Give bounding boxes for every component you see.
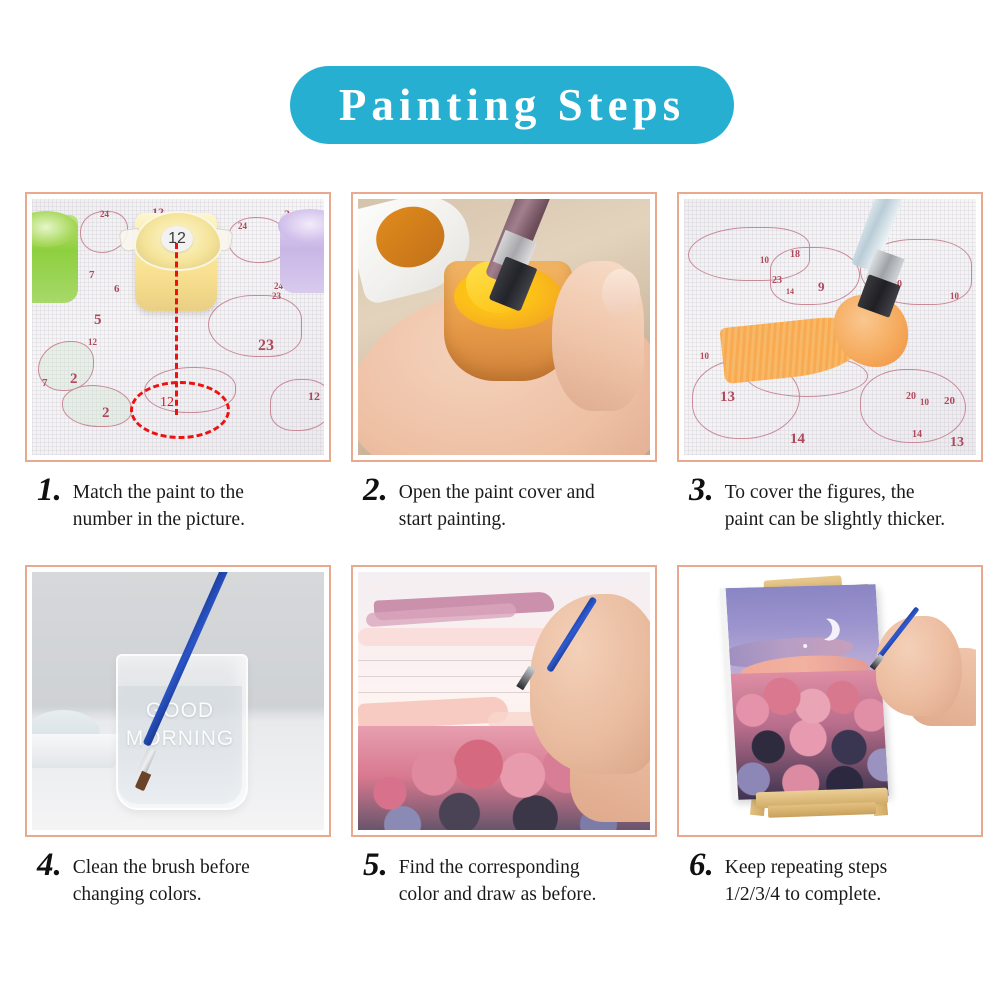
canvas-number: 14 (912, 429, 922, 440)
step-text-line-1: Open the paint cover and (399, 479, 595, 506)
fingernail (602, 269, 640, 317)
canvas-number: 20 (906, 391, 916, 402)
paint-pot-matching-number-photo: 12 24 2 24 7 6 5 12 2 7 2 23 24 23 12 12 (32, 199, 324, 455)
step-card-1: 12 24 2 24 7 6 5 12 2 7 2 23 24 23 12 12 (25, 192, 331, 533)
canvas-number: 7 (89, 269, 95, 281)
finished-canvas (720, 584, 889, 800)
pot-lid (32, 211, 78, 247)
canvas-number: 13 (950, 435, 964, 451)
canvas-shape (208, 295, 302, 357)
step-card-6: 6. Keep repeating steps 1/2/3/4 to compl… (677, 565, 983, 908)
step-text-3: To cover the figures, the paint can be s… (725, 475, 945, 533)
step-caption-2: 2. Open the paint cover and start painti… (351, 475, 657, 533)
photo-frame-1: 12 24 2 24 7 6 5 12 2 7 2 23 24 23 12 12 (25, 192, 331, 462)
canvas-number: 6 (114, 283, 120, 295)
page-title-badge: Painting Steps (290, 66, 734, 144)
canvas-number: 9 (818, 279, 825, 295)
step-number-3: 3. (689, 475, 714, 505)
step-text-line-1: Clean the brush before (73, 854, 250, 881)
photo-frame-2 (351, 192, 657, 462)
step-caption-4: 4. Clean the brush before changing color… (25, 850, 331, 908)
open-paint-pot-with-brush-photo (358, 199, 650, 455)
step-text-4: Clean the brush before changing colors. (73, 850, 250, 908)
step-caption-6: 6. Keep repeating steps 1/2/3/4 to compl… (677, 850, 983, 908)
paint-residue (366, 199, 453, 279)
easel-tray-lower (768, 802, 876, 818)
canvas-number: 13 (720, 389, 735, 406)
step-text-2: Open the paint cover and start painting. (399, 475, 595, 533)
step-text-5: Find the corresponding color and draw as… (399, 850, 597, 908)
glass-text: GOOD MORNING (124, 697, 236, 753)
canvas-number: 10 (920, 397, 929, 407)
brush-in-water-glass-photo: GOOD MORNING (32, 572, 324, 830)
step-card-5: 5. Find the corresponding color and draw… (351, 565, 657, 908)
canvas-number: 12 (308, 389, 320, 404)
canvas-shape (270, 379, 324, 431)
star-icon (803, 644, 807, 648)
step-number-4: 4. (37, 850, 62, 880)
canvas-number: 12 (88, 337, 97, 347)
step-text-line-1: To cover the figures, the (725, 479, 945, 506)
step-number-1: 1. (37, 475, 62, 505)
step-card-3: 10 18 23 14 9 20 19 10 10 20 13 20 10 20… (677, 192, 983, 533)
canvas-number: 7 (42, 377, 48, 389)
step-text-line-2: 1/2/3/4 to complete. (725, 881, 887, 908)
page-title: Painting Steps (339, 79, 685, 131)
step-text-1: Match the paint to the number in the pic… (73, 475, 245, 533)
glass-text-line-1: GOOD (124, 697, 236, 725)
step-number-2: 2. (363, 475, 388, 505)
step-text-line-2: color and draw as before. (399, 881, 597, 908)
canvas-number: 5 (94, 312, 102, 329)
step-text-line-1: Keep repeating steps (725, 854, 887, 881)
step-text-line-2: paint can be slightly thicker. (725, 506, 945, 533)
step-caption-5: 5. Find the corresponding color and draw… (351, 850, 657, 908)
callout-number: 12 (160, 395, 174, 411)
photo-frame-4: GOOD MORNING (25, 565, 331, 837)
step-text-line-2: changing colors. (73, 881, 250, 908)
step-caption-1: 1. Match the paint to the number in the … (25, 475, 331, 533)
partially-painted-canvas-photo (358, 572, 650, 830)
callout-dashed-ellipse (130, 381, 230, 439)
step-number-6: 6. (689, 850, 714, 880)
canvas-number: 24 (238, 221, 247, 231)
photo-frame-6 (677, 565, 983, 837)
paint-pot-green (32, 215, 78, 303)
canvas-number: 18 (790, 249, 800, 260)
glass-text-line-2: MORNING (124, 725, 236, 753)
canvas-number: 14 (786, 287, 794, 296)
canvas-number: 23 (272, 291, 281, 301)
photo-frame-3: 10 18 23 14 9 20 19 10 10 20 13 20 10 20… (677, 192, 983, 462)
step-card-2: 2. Open the paint cover and start painti… (351, 192, 657, 533)
canvas-number: 10 (700, 351, 709, 361)
pot-lid (278, 209, 324, 243)
step-number-5: 5. (363, 850, 388, 880)
canvas-number: 14 (790, 431, 805, 448)
canvas-number: 2 (102, 405, 110, 422)
canvas-number: 23 (772, 275, 782, 286)
background-tray (32, 734, 121, 768)
step-text-line-1: Match the paint to the (73, 479, 245, 506)
brush-stroke-on-numbered-canvas-photo: 10 18 23 14 9 20 19 10 10 20 13 20 10 20… (684, 199, 976, 455)
step-caption-3: 3. To cover the figures, the paint can b… (677, 475, 983, 533)
canvas-number: 24 (100, 209, 109, 219)
painted-cherry-blossoms (727, 670, 889, 800)
hand (876, 616, 962, 716)
step-text-line-2: start painting. (399, 506, 595, 533)
canvas-number: 23 (258, 337, 274, 355)
hand (530, 594, 650, 774)
step-card-4: GOOD MORNING 4. Clean the brush before c… (25, 565, 331, 908)
photo-frame-5 (351, 565, 657, 837)
finished-painting-on-easel-photo (684, 572, 976, 830)
step-text-6: Keep repeating steps 1/2/3/4 to complete… (725, 850, 887, 908)
paint-pot-purple (280, 213, 324, 293)
canvas-number: 10 (950, 291, 959, 301)
step-text-line-1: Find the corresponding (399, 854, 597, 881)
canvas-number: 10 (760, 255, 769, 265)
canvas-number: 2 (70, 371, 78, 388)
canvas-number: 20 (944, 395, 955, 407)
step-text-line-2: number in the picture. (73, 506, 245, 533)
